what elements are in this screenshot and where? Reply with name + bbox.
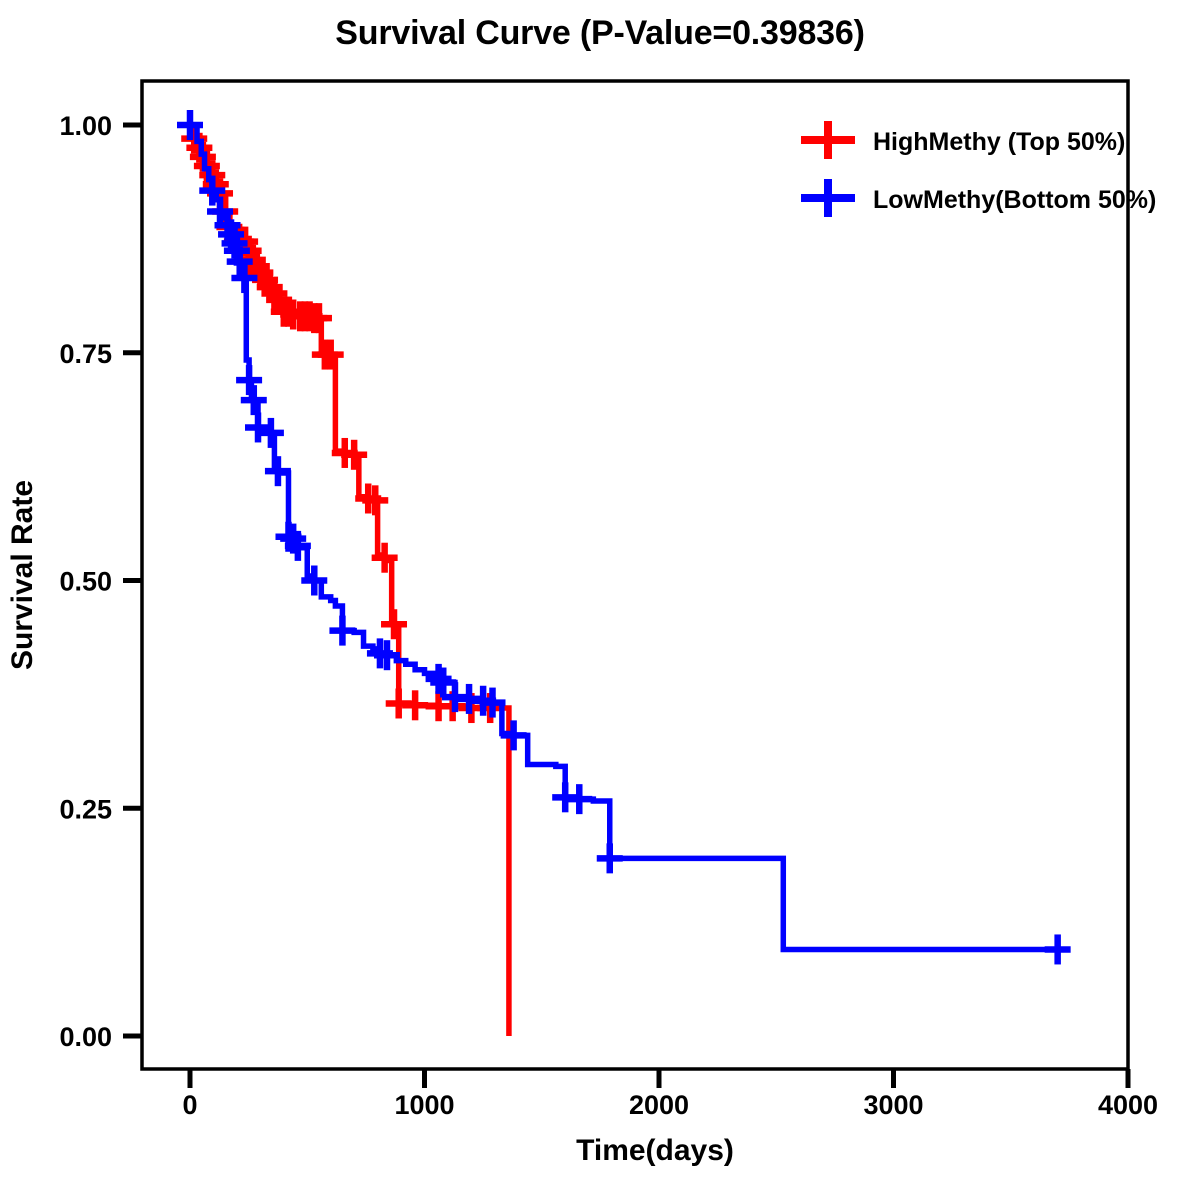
x-axis-ticks — [190, 1069, 1128, 1088]
y-tick-label: 0.75 — [59, 339, 112, 369]
x-axis-title: Time(days) — [576, 1134, 734, 1167]
y-axis-tick-labels: 0.000.250.500.751.00 — [59, 111, 112, 1052]
survival-chart: 01000200030004000 0.000.250.500.751.00 T… — [0, 0, 1200, 1200]
legend-label: LowMethy(Bottom 50%) — [873, 186, 1156, 214]
y-tick-label: 0.00 — [59, 1022, 112, 1052]
x-tick-label: 1000 — [394, 1090, 454, 1120]
y-tick-label: 0.25 — [59, 794, 112, 824]
x-tick-label: 2000 — [629, 1090, 689, 1120]
y-axis-ticks — [123, 125, 142, 1036]
x-tick-label: 0 — [182, 1090, 197, 1120]
x-tick-label: 3000 — [863, 1090, 923, 1120]
plot-frame — [142, 81, 1128, 1069]
legend-label: HighMethy (Top 50%) — [873, 128, 1125, 156]
chart-page: Survival Curve (P-Value=0.39836) 0100020… — [0, 0, 1200, 1200]
y-tick-label: 0.50 — [59, 567, 112, 597]
x-tick-label: 4000 — [1098, 1090, 1158, 1120]
y-axis-title: Survival Rate — [6, 480, 39, 670]
y-tick-label: 1.00 — [59, 111, 112, 141]
x-axis-tick-labels: 01000200030004000 — [182, 1090, 1158, 1120]
